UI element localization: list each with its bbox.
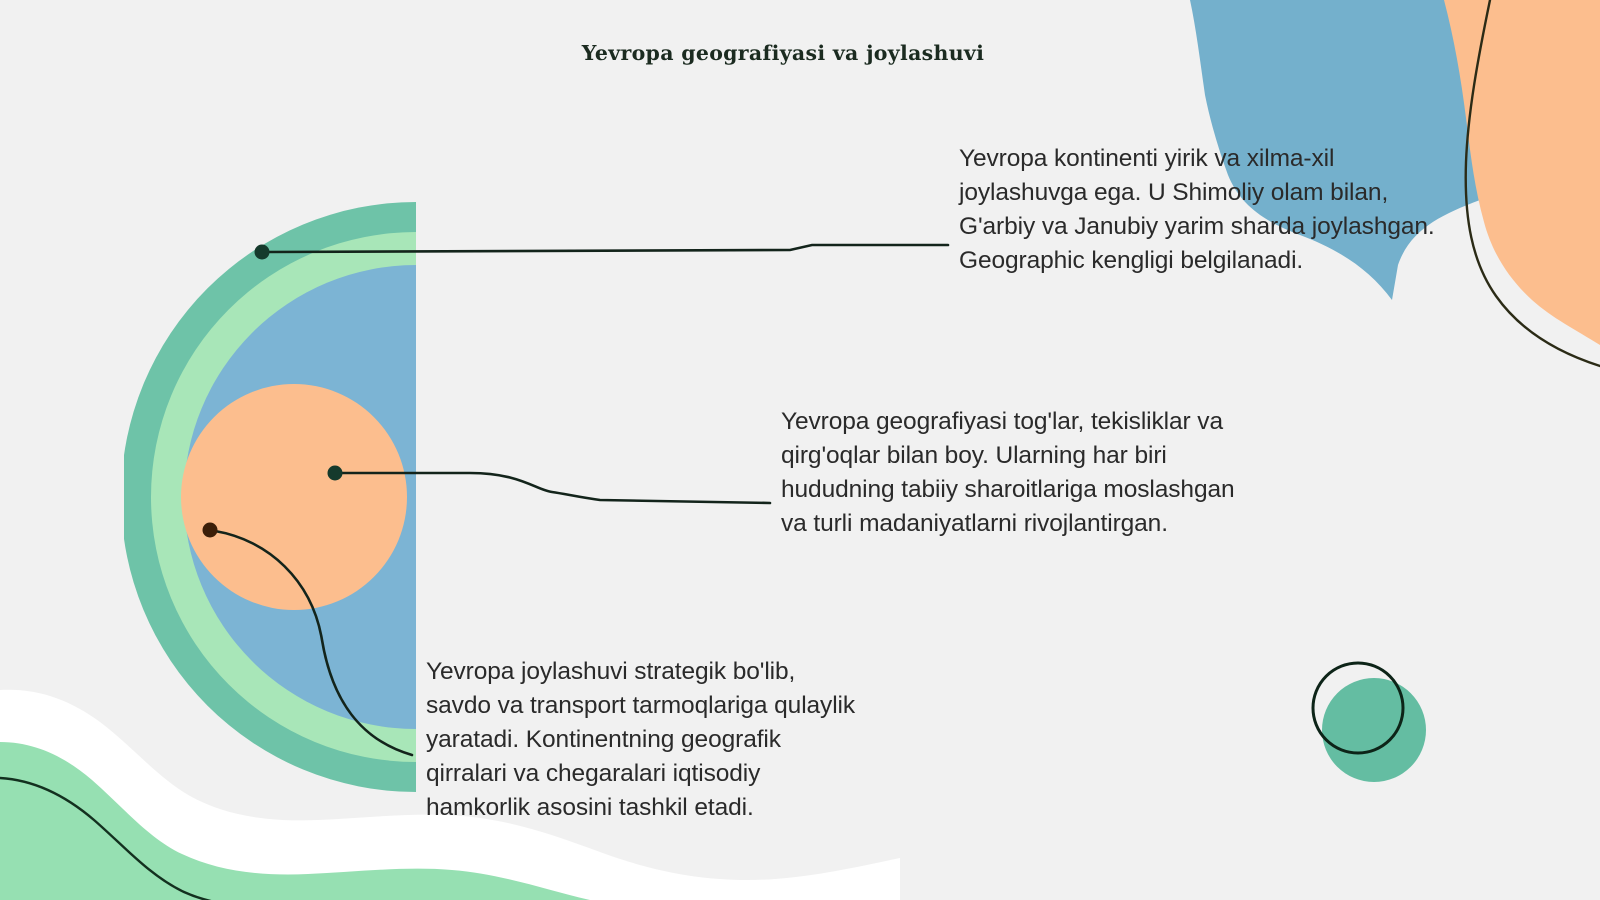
concentric-rings-diagram [124, 202, 416, 800]
callout-text-3: Yevropa joylashuvi strategik bo'lib, sav… [426, 655, 866, 825]
callout-text-2: Yevropa geografiyasi tog'lar, tekislikla… [781, 405, 1261, 541]
bottom-right-teal-circle-shape [1322, 678, 1426, 782]
page-title: Yevropa geografiyasi va joylashuvi [0, 41, 1566, 65]
bottom-right-outline-circle-shape [1313, 663, 1403, 753]
slide-canvas: Yevropa geografiyasi va joylashuvi Yevro… [0, 0, 1600, 900]
callout-text-1: Yevropa kontinenti yirik va xilma-xil jo… [959, 142, 1439, 278]
ring-core-orange [181, 384, 407, 610]
